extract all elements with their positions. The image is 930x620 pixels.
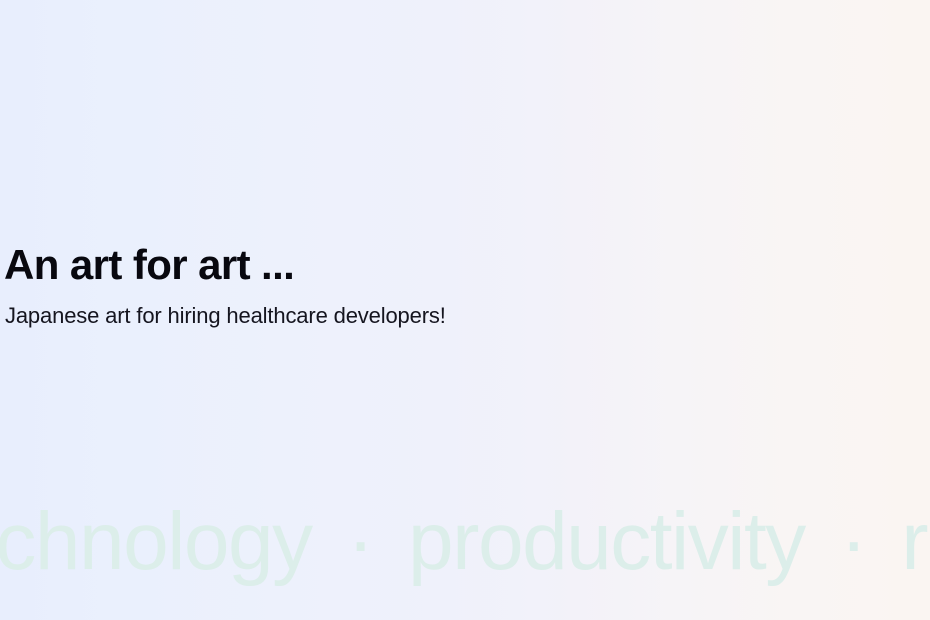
marquee-word-technology: technology: [0, 496, 312, 587]
marquee-separator-dot: ·: [826, 496, 880, 587]
marquee-track: technology · productivity · results: [0, 492, 930, 592]
marquee-word-productivity: productivity: [408, 496, 805, 587]
page-root: An art for art ... Japanese art for hiri…: [0, 0, 930, 620]
page-title: An art for art ...: [4, 243, 930, 288]
marquee-separator-dot: ·: [333, 496, 387, 587]
marquee-word-results: results: [901, 496, 930, 587]
background-marquee: technology · productivity · results: [0, 492, 930, 592]
hero-section: An art for art ... Japanese art for hiri…: [0, 243, 930, 329]
page-subtitle: Japanese art for hiring healthcare devel…: [4, 288, 930, 330]
